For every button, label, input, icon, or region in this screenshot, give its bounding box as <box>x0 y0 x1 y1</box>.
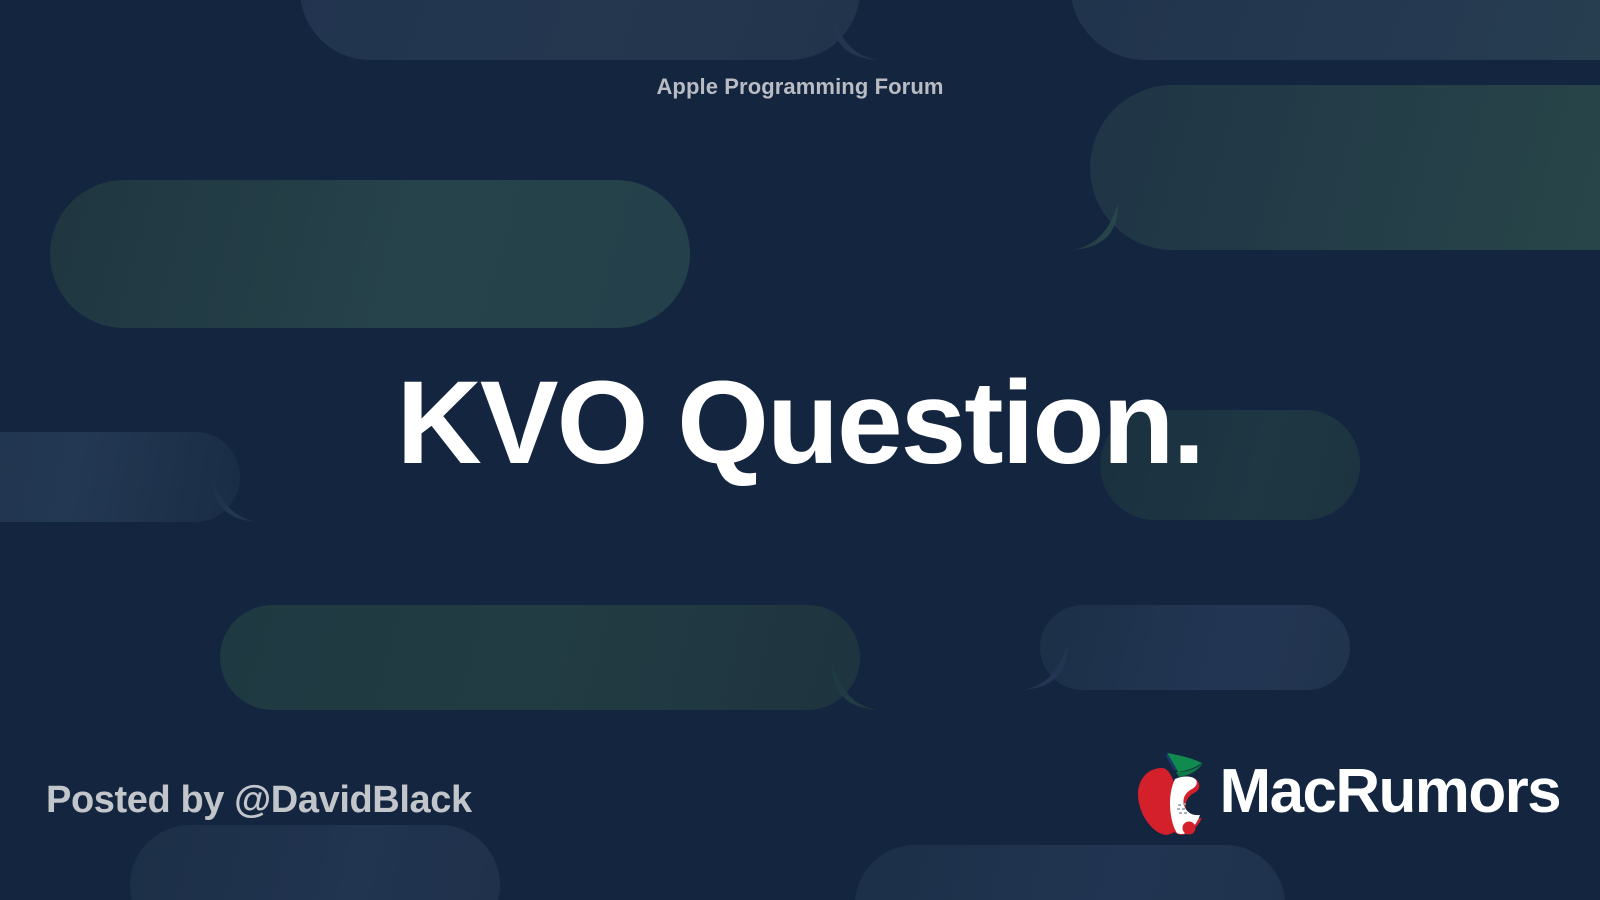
forum-name-label: Apple Programming Forum <box>0 74 1600 100</box>
posted-by-label: Posted by @DavidBlack <box>46 779 472 822</box>
thread-title: KVO Question. <box>80 362 1520 486</box>
social-share-card: Apple Programming Forum KVO Question. Po… <box>0 0 1600 900</box>
macrumors-wordmark: MacRumors <box>1220 761 1560 823</box>
macrumors-logo: MacRumors <box>1132 746 1560 838</box>
macrumors-apple-question-mark-icon <box>1132 746 1216 838</box>
